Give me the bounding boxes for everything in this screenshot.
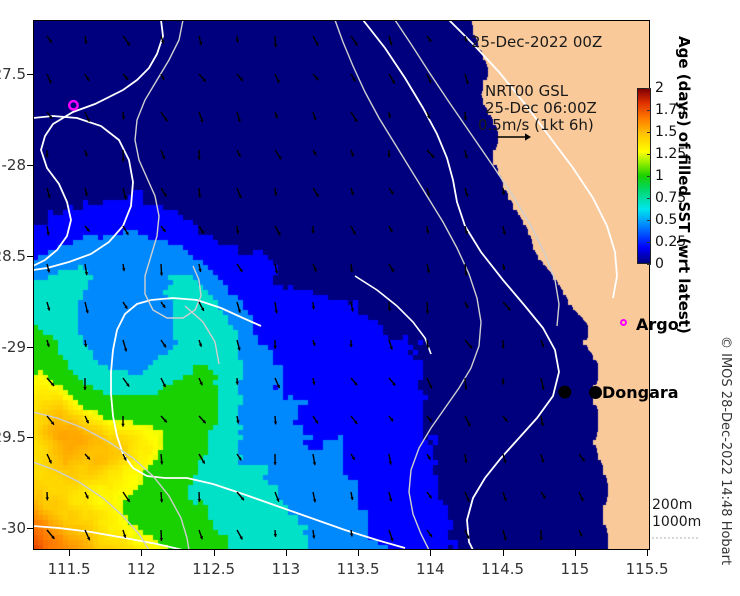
current-vector <box>311 226 315 233</box>
argo-marker-icon <box>620 319 627 326</box>
current-vector <box>121 416 125 427</box>
current-vector <box>274 188 277 196</box>
current-vector <box>123 74 128 80</box>
current-vector <box>351 74 355 81</box>
current-vector <box>47 454 52 463</box>
current-vector <box>199 454 205 464</box>
bathymetry-contour <box>185 306 219 364</box>
y-tick <box>27 437 33 438</box>
current-vector <box>389 36 393 45</box>
x-tick <box>214 550 215 556</box>
current-vector <box>351 302 354 311</box>
current-vector <box>275 74 280 83</box>
current-vector <box>313 416 318 423</box>
current-vector <box>199 74 206 82</box>
current-vector <box>123 340 127 351</box>
current-vector <box>123 302 127 309</box>
current-vector <box>161 416 167 422</box>
x-tick-label: 115 <box>561 560 590 578</box>
x-tick-label: 113.5 <box>337 560 380 578</box>
current-vector <box>46 340 49 347</box>
current-vector <box>161 340 166 347</box>
x-tick-label: 114 <box>416 560 445 578</box>
current-vector <box>199 416 206 423</box>
current-vector <box>579 492 584 501</box>
current-vector <box>161 302 165 308</box>
current-vector <box>237 112 241 122</box>
current-vector <box>237 264 242 272</box>
current-vector <box>85 302 89 313</box>
current-vector <box>199 112 203 122</box>
current-vector <box>501 378 505 385</box>
current-vector <box>161 188 166 196</box>
x-tick-label: 113 <box>272 560 301 578</box>
current-vector <box>389 188 393 194</box>
current-vector <box>389 74 395 84</box>
current-vector <box>503 302 510 310</box>
current-vector <box>198 492 202 502</box>
x-tick-label: 112 <box>127 560 156 578</box>
current-vector <box>351 416 357 424</box>
current-vector <box>350 264 353 272</box>
current-vector <box>464 150 467 158</box>
current-vector <box>351 378 357 385</box>
bathymetry-contour <box>151 298 261 326</box>
y-tick-label: -27.5 <box>0 65 26 83</box>
colorbar-title: Age (days) of filled SST (wrt latest) <box>675 36 693 296</box>
current-vector <box>85 188 88 196</box>
bathymetry-contour <box>33 20 163 266</box>
current-vector <box>47 74 52 83</box>
current-vector <box>45 150 49 157</box>
current-vector <box>237 530 242 540</box>
current-vector <box>389 454 392 465</box>
current-vector <box>237 302 241 313</box>
current-vector <box>275 302 278 313</box>
depth-legend-200m: 200m <box>652 497 692 513</box>
current-vector <box>465 492 470 502</box>
y-tick <box>27 74 33 75</box>
current-vector <box>464 378 467 390</box>
current-vector <box>275 492 279 502</box>
title-date: 25-Dec-2022 00Z <box>471 33 602 51</box>
current-vector <box>275 264 278 274</box>
current-vector <box>465 416 471 427</box>
y-tick <box>27 256 33 257</box>
current-vector <box>465 302 468 308</box>
current-vector <box>313 454 316 465</box>
current-vector <box>273 454 277 465</box>
current-vector <box>427 530 432 537</box>
current-vector <box>351 188 354 195</box>
current-vector <box>85 74 89 81</box>
current-vector <box>427 492 432 498</box>
colorbar-tick <box>647 154 651 155</box>
current-vector <box>123 188 127 199</box>
current-vector <box>501 340 505 348</box>
bathymetry-contour <box>33 412 189 550</box>
colorbar-tick-label: 2 <box>655 80 664 96</box>
current-vector <box>199 530 203 539</box>
current-vector <box>274 416 277 424</box>
x-tick-label: 111.5 <box>48 560 91 578</box>
current-vector <box>275 112 278 118</box>
current-vector <box>541 492 546 498</box>
current-vector <box>502 188 505 195</box>
current-vector <box>313 36 318 46</box>
current-vector <box>427 264 430 273</box>
y-tick-label: -30 <box>0 519 26 537</box>
current-vector <box>84 340 87 347</box>
gsl-time-label: 25-Dec 06:00Z <box>485 99 597 117</box>
current-vector <box>541 340 544 347</box>
x-tick <box>575 550 576 556</box>
gsl-scale-label: 0.5m/s (1kt 6h) <box>478 116 594 134</box>
credit-label: © IMOS 28-Dec-2022 14:48 Hobart <box>718 336 733 596</box>
current-vector <box>389 530 393 541</box>
dongara-town-marker-icon[interactable] <box>558 386 571 399</box>
current-vector <box>274 36 277 47</box>
bathymetry-contour <box>135 20 201 318</box>
current-vector <box>313 264 317 272</box>
current-vector <box>350 492 353 500</box>
colorbar-tick <box>647 132 651 133</box>
current-vector <box>47 302 50 311</box>
current-vector <box>389 378 395 386</box>
current-vector <box>160 264 164 276</box>
current-vector <box>85 454 90 460</box>
current-vector <box>199 226 204 234</box>
current-vector <box>388 302 391 311</box>
colorbar-tick <box>647 264 651 265</box>
current-vector <box>274 530 277 537</box>
current-vector <box>351 454 355 460</box>
current-vector <box>389 340 393 350</box>
current-vector <box>579 454 585 461</box>
current-vector <box>465 340 472 348</box>
current-vector <box>427 188 430 196</box>
reference-vector-arrow-icon <box>497 131 531 143</box>
bathymetry-contour <box>33 462 149 550</box>
current-vector <box>389 492 392 501</box>
current-vector <box>427 150 434 158</box>
current-vector <box>47 378 54 386</box>
gsl-source-label: NRT00 GSL <box>485 82 568 100</box>
current-vector <box>237 340 241 350</box>
current-vector <box>312 340 315 346</box>
current-vector <box>427 416 432 422</box>
bathymetry-contour <box>449 20 617 298</box>
colorbar-tick <box>647 198 651 199</box>
current-vector <box>47 188 51 198</box>
current-vector <box>313 492 316 502</box>
colorbar-tick-label: 1 <box>655 168 664 184</box>
y-tick <box>27 347 33 348</box>
dongara-marker-icon <box>589 386 602 399</box>
colorbar-tick <box>647 220 651 221</box>
current-vector <box>161 378 166 387</box>
x-tick-label: 114.5 <box>481 560 524 578</box>
current-vector <box>579 530 582 537</box>
current-vector <box>312 302 315 309</box>
y-tick-label: -28.5 <box>0 247 26 265</box>
current-vector <box>388 112 391 118</box>
current-vector <box>199 36 202 45</box>
current-vector <box>351 112 357 122</box>
y-tick <box>27 528 33 529</box>
current-vector <box>503 454 506 463</box>
colorbar-tick <box>647 88 651 89</box>
current-vector <box>122 112 125 120</box>
current-vector <box>275 378 280 388</box>
current-vector <box>273 340 277 349</box>
current-vector <box>237 454 241 460</box>
current-vector <box>83 378 87 390</box>
current-vector <box>236 226 239 234</box>
colorbar-tick-label: 0.5 <box>655 212 677 228</box>
current-vector <box>123 226 128 235</box>
current-vector <box>539 530 543 540</box>
current-vector <box>503 530 507 540</box>
x-tick <box>430 550 431 556</box>
current-vector <box>502 226 505 235</box>
current-vector <box>123 492 130 502</box>
y-tick-label: -28 <box>0 156 26 174</box>
current-vector <box>47 36 52 43</box>
current-vector <box>161 226 166 232</box>
current-vector <box>464 112 467 120</box>
current-vector <box>235 378 238 385</box>
current-vector <box>85 226 90 232</box>
current-vector <box>237 188 242 198</box>
current-vector <box>389 264 394 272</box>
current-vector <box>275 150 281 159</box>
current-vector <box>236 416 239 423</box>
current-vector <box>161 74 164 80</box>
current-vector <box>237 150 241 157</box>
dongara-city-label: Dongara <box>602 383 679 402</box>
current-vector <box>427 36 431 42</box>
current-vector <box>46 226 49 235</box>
x-tick-label: 112.5 <box>192 560 235 578</box>
current-vector <box>351 150 354 157</box>
x-tick <box>69 550 70 556</box>
current-vector <box>197 150 201 160</box>
current-vector <box>389 416 393 421</box>
figure-root: 25-Dec-2022 00Z NRT00 GSL 25-Dec 06:00Z … <box>0 0 740 592</box>
current-vector <box>85 416 89 423</box>
current-vector <box>503 492 507 501</box>
current-vector <box>198 264 201 272</box>
current-vector <box>541 454 544 462</box>
depth-legend-1000m-line <box>652 537 698 539</box>
current-vector <box>312 378 315 385</box>
current-vector <box>313 74 318 80</box>
current-vector <box>426 226 429 234</box>
current-vector <box>85 492 89 499</box>
current-vector <box>503 416 507 422</box>
colorbar-tick-label: 1.5 <box>655 124 677 140</box>
current-vector <box>389 226 392 232</box>
bathymetry-contour <box>395 20 559 326</box>
current-vector <box>46 492 50 500</box>
x-tick <box>503 550 504 556</box>
current-vector <box>313 112 316 120</box>
current-vector <box>387 150 391 157</box>
current-vector <box>312 530 315 538</box>
current-vector <box>123 36 130 46</box>
bathymetry-contour <box>33 526 183 550</box>
current-vector <box>465 74 469 84</box>
current-vector <box>349 340 353 347</box>
current-vector <box>541 416 544 426</box>
bathymetry-contour <box>335 20 481 550</box>
x-tick <box>358 550 359 556</box>
colorbar-tick <box>647 110 651 111</box>
current-vector <box>313 188 319 197</box>
current-vector <box>426 302 430 314</box>
current-vector <box>427 454 430 460</box>
depth-legend-200m-line <box>652 532 698 534</box>
current-vector <box>199 378 203 385</box>
current-vector <box>160 454 163 464</box>
depth-legend-1000m: 1000m <box>652 514 701 530</box>
argo-float-marker-icon[interactable] <box>69 101 77 109</box>
current-vector <box>199 340 202 347</box>
current-vector <box>47 530 54 539</box>
current-vector <box>465 188 468 197</box>
current-vector <box>237 74 243 81</box>
current-vector <box>427 378 432 389</box>
bathymetry-contour <box>111 300 405 548</box>
y-tick-label: -29.5 <box>0 428 26 446</box>
x-tick <box>286 550 287 556</box>
current-vector <box>236 36 239 42</box>
current-vector <box>198 188 201 197</box>
current-vector <box>123 530 126 538</box>
current-vector <box>351 36 357 46</box>
colorbar-tick-label: 0 <box>655 256 664 272</box>
colorbar-tick <box>647 242 651 243</box>
current-vector <box>541 378 545 390</box>
current-vector <box>122 264 125 271</box>
current-vector <box>123 378 129 387</box>
current-vector <box>85 264 88 275</box>
current-vector <box>84 150 87 156</box>
x-tick-label: 115.5 <box>626 560 669 578</box>
current-vector <box>502 264 505 270</box>
bathymetry-contour <box>355 276 431 354</box>
current-vector <box>351 226 356 235</box>
current-vector <box>160 530 164 541</box>
argo-legend-label: Argo <box>636 315 679 334</box>
current-vector <box>275 226 280 236</box>
current-vector <box>160 492 163 502</box>
current-vector <box>161 112 167 121</box>
current-vector <box>313 150 316 155</box>
current-vector <box>199 302 204 311</box>
current-vector <box>84 36 87 44</box>
x-tick <box>141 550 142 556</box>
x-tick <box>647 550 648 556</box>
current-vector <box>464 454 467 463</box>
colorbar-tick <box>647 176 651 177</box>
y-tick <box>27 165 33 166</box>
current-vector <box>161 150 165 159</box>
y-tick-label: -29 <box>0 338 26 356</box>
